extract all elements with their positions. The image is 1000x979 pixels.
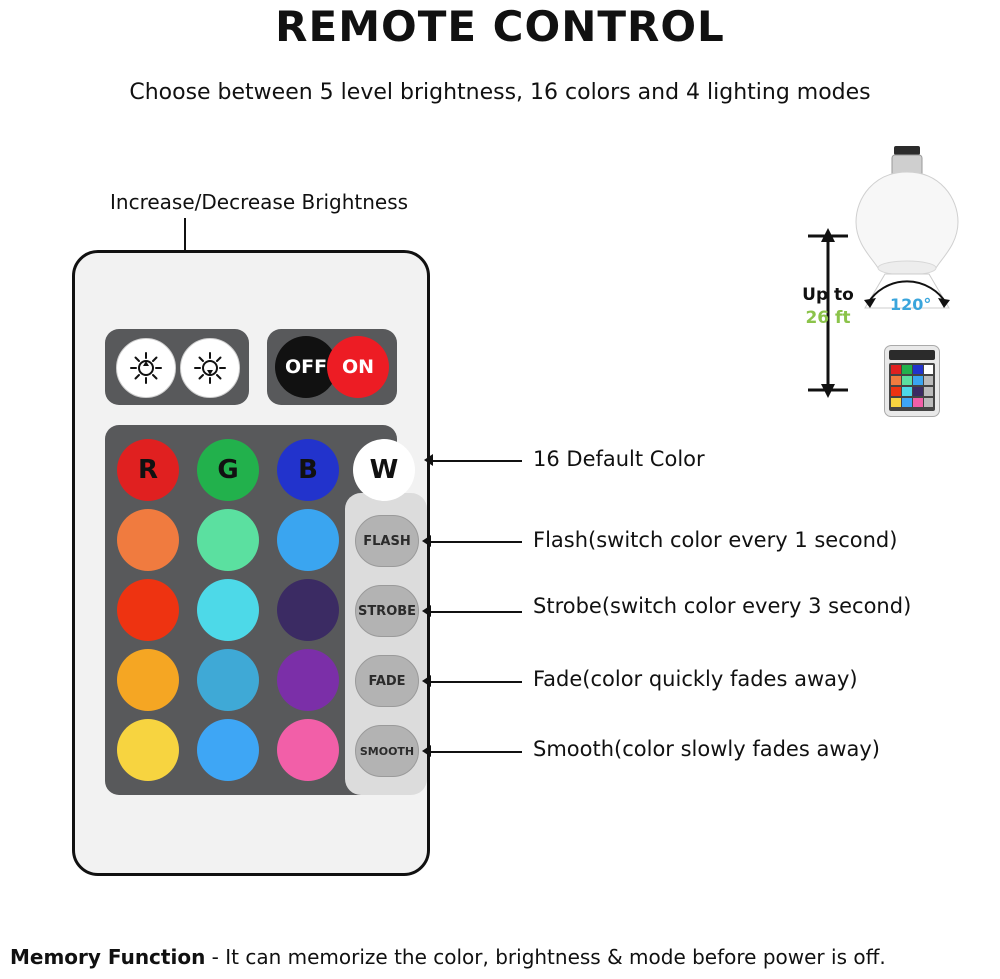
brightness-up-button[interactable] (116, 338, 176, 398)
footer-note-bold: Memory Function (10, 945, 205, 969)
leader-line-strobe (430, 611, 522, 613)
color-label-g: G (217, 455, 238, 485)
callout-flash: Flash(switch color every 1 second) (533, 528, 897, 552)
color-button-azure[interactable] (197, 719, 259, 781)
color-button-teal[interactable] (197, 649, 259, 711)
page-title: REMOTE CONTROL (0, 2, 1000, 51)
brightness-panel (105, 329, 249, 405)
color-button-orange[interactable] (117, 509, 179, 571)
page-subtitle: Choose between 5 level brightness, 16 co… (0, 80, 1000, 105)
color-label-b: B (298, 455, 318, 485)
mode-button-strobe[interactable]: STROBE (355, 585, 419, 637)
leader-arrow-strobe (422, 605, 431, 617)
color-button-red[interactable]: R (117, 439, 179, 501)
color-button-pink[interactable] (277, 719, 339, 781)
power-panel: OFF ON (267, 329, 397, 405)
color-button-skyblue[interactable] (277, 509, 339, 571)
mode-label-fade: FADE (368, 674, 405, 689)
color-button-white[interactable]: W (353, 439, 415, 501)
leader-arrow-fade (422, 675, 431, 687)
footer-note: Memory Function - It can memorize the co… (10, 945, 990, 969)
callout-fade: Fade(color quickly fades away) (533, 667, 858, 691)
color-button-purple[interactable] (277, 649, 339, 711)
color-button-amber[interactable] (117, 649, 179, 711)
leader-arrow-default-color (424, 454, 433, 466)
mode-label-flash: FLASH (363, 534, 410, 549)
leader-line-default-color (432, 460, 522, 462)
leader-line-flash (430, 541, 522, 543)
mini-remote-thumbnail (884, 345, 940, 417)
callout-smooth: Smooth(color slowly fades away) (533, 737, 880, 761)
color-button-yellow[interactable] (117, 719, 179, 781)
color-button-mint[interactable] (197, 509, 259, 571)
leader-arrow-flash (422, 535, 431, 547)
range-distance-line2: 26 ft (788, 308, 868, 328)
on-button[interactable]: ON (327, 336, 389, 398)
leader-line-smooth (430, 751, 522, 753)
sun-down-icon (193, 351, 227, 385)
color-button-cyan[interactable] (197, 579, 259, 641)
range-distance-line1: Up to (788, 285, 868, 305)
sun-up-icon (129, 351, 163, 385)
leader-arrow-smooth (422, 745, 431, 757)
leader-line-fade (430, 681, 522, 683)
mode-label-smooth: SMOOTH (360, 745, 414, 758)
color-label-r: R (138, 455, 158, 485)
callout-brightness: Increase/Decrease Brightness (110, 190, 408, 214)
on-label: ON (342, 356, 374, 378)
color-label-w: W (370, 455, 399, 485)
color-button-blue[interactable]: B (277, 439, 339, 501)
color-button-scarlet[interactable] (117, 579, 179, 641)
footer-note-rest: - It can memorize the color, brightness … (205, 945, 885, 969)
remote-body: OFF ON R G B W FLASH STROBE FADE SMOOTH (72, 250, 430, 876)
brightness-down-button[interactable] (180, 338, 240, 398)
callout-default-color: 16 Default Color (533, 447, 705, 471)
off-label: OFF (285, 356, 327, 378)
mode-label-strobe: STROBE (358, 604, 416, 619)
mode-button-fade[interactable]: FADE (355, 655, 419, 707)
color-button-green[interactable]: G (197, 439, 259, 501)
callout-strobe: Strobe(switch color every 3 second) (533, 594, 911, 618)
range-angle-label: 120° (890, 295, 931, 314)
mode-button-flash[interactable]: FLASH (355, 515, 419, 567)
mode-button-smooth[interactable]: SMOOTH (355, 725, 419, 777)
color-button-indigo[interactable] (277, 579, 339, 641)
